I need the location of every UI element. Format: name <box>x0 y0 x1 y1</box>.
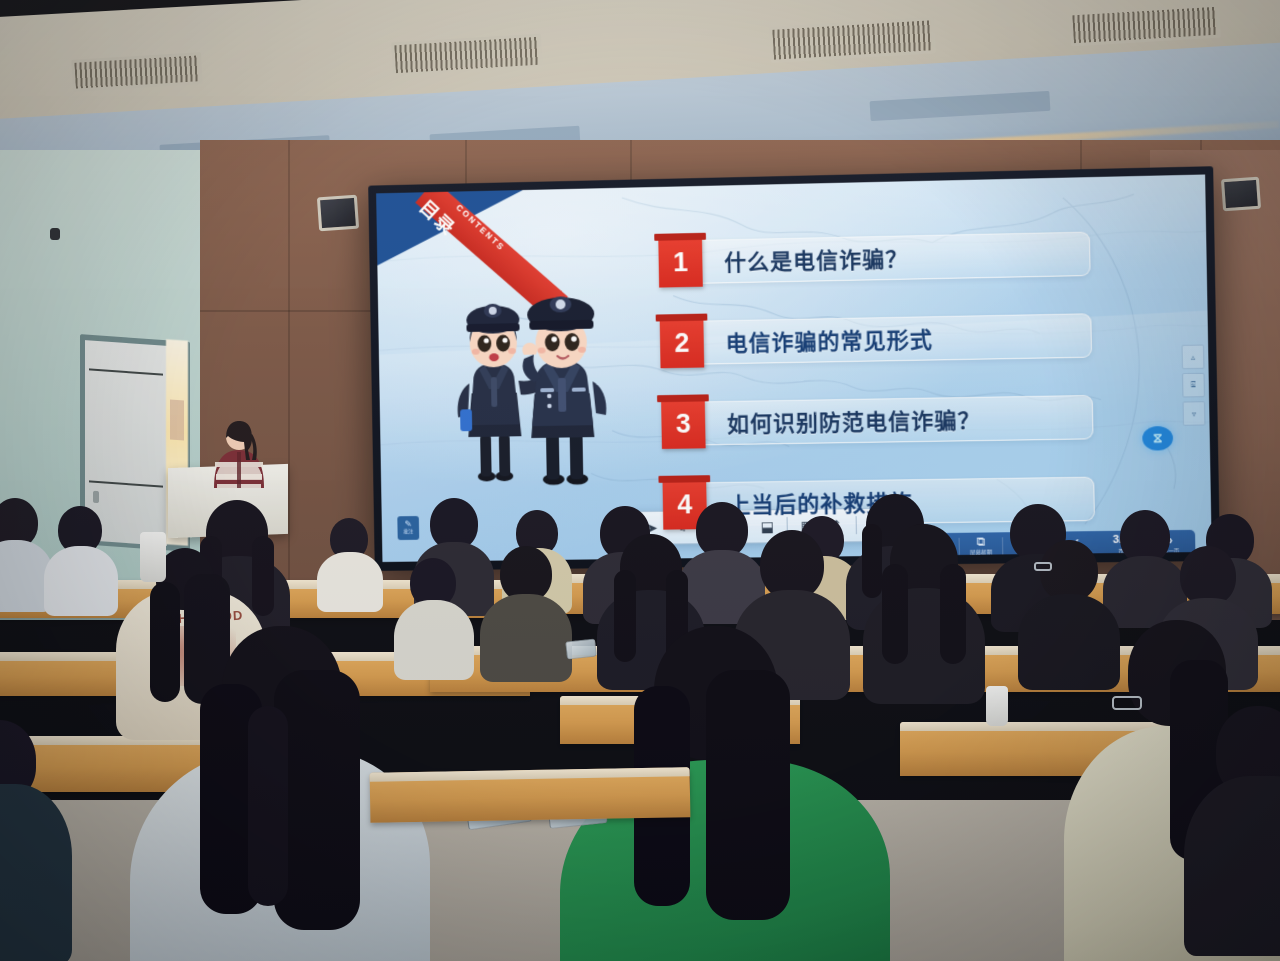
contents-item[interactable]: 1 什么是电信诈骗？ <box>658 228 1090 289</box>
glasses-icon <box>1034 562 1052 571</box>
contents-item-number: 3 <box>661 398 706 449</box>
contents-item-label: 电信诈骗的常见形式 <box>725 322 933 358</box>
wall-speaker-icon <box>317 195 359 232</box>
screen-side-rail[interactable]: ▵ ⌺ ▿ <box>1182 345 1206 430</box>
smartphone[interactable] <box>565 638 597 659</box>
page-down-icon[interactable]: ▿ <box>1183 401 1206 426</box>
lecture-hall-photo: 目录 CONTENTS <box>0 0 1280 961</box>
contents-item-label: 如何识别防范电信诈骗？ <box>727 403 981 439</box>
page-up-icon[interactable]: ▵ <box>1182 345 1205 370</box>
contents-item-number: 1 <box>658 237 703 288</box>
glasses-icon <box>1112 696 1142 710</box>
contents-item[interactable]: 3 如何识别防范电信诈骗？ <box>661 391 1094 450</box>
contents-item-number: 2 <box>660 318 705 369</box>
door-outside-glimpse <box>170 400 184 441</box>
wall-speaker-icon <box>1221 177 1261 212</box>
page-label-icon[interactable]: ⌺ <box>1182 373 1205 398</box>
contents-banner: 目录 CONTENTS <box>376 185 582 298</box>
police-mascots-illustration <box>429 283 620 495</box>
contents-item-label: 什么是电信诈骗？ <box>724 241 909 277</box>
audience-area: NIGHTWOOD <box>0 470 1280 961</box>
camera-icon <box>50 228 60 240</box>
contents-item[interactable]: 2 电信诈骗的常见形式 <box>660 309 1093 369</box>
water-bottle[interactable] <box>986 686 1008 726</box>
desk-row-front <box>370 767 691 823</box>
water-bottle[interactable] <box>140 532 166 582</box>
